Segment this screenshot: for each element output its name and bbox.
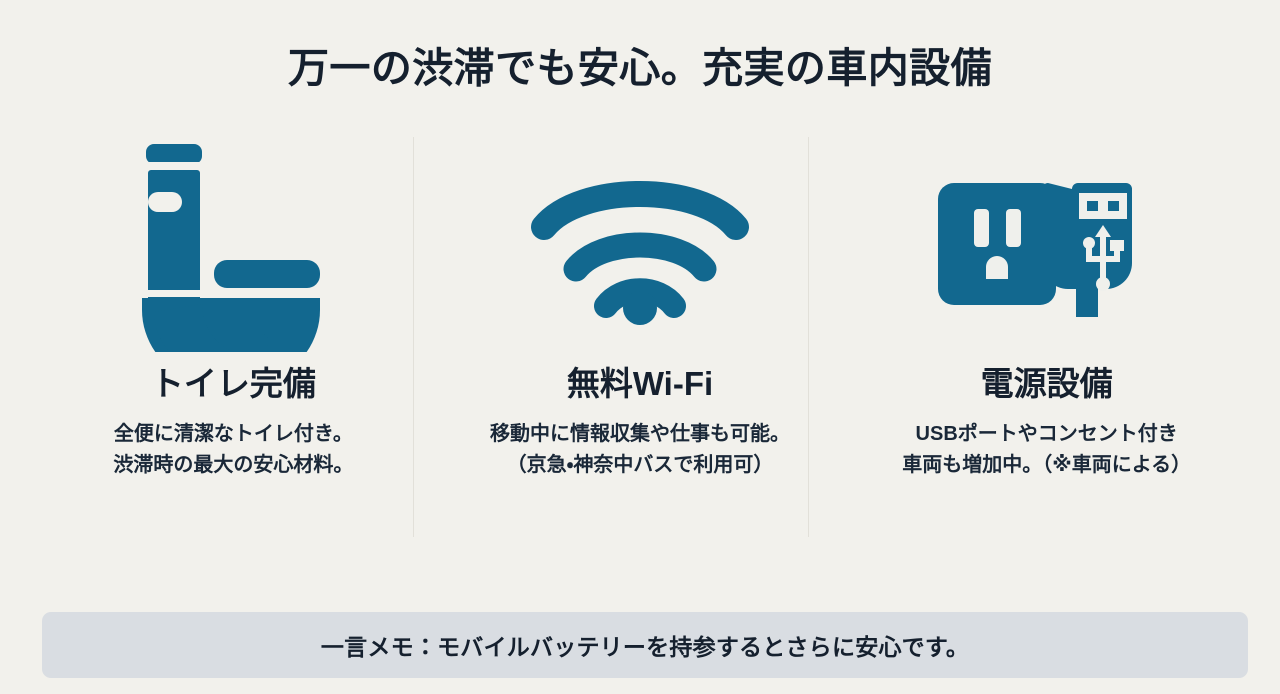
feature-desc-line-2: （京急・神奈中バスで利用可） <box>490 450 790 481</box>
feature-desc-line-1: USBポートやコンセント付き <box>902 419 1191 450</box>
feature-desc-power: USBポートやコンセント付き 車両も増加中。（※車両による） <box>902 419 1191 481</box>
feature-desc-line-1: 全便に清潔なトイレ付き。 <box>113 419 353 450</box>
outlet-icon <box>938 183 1056 305</box>
feature-column-power: 電源設備 USBポートやコンセント付き 車両も増加中。（※車両による） <box>843 127 1250 537</box>
feature-desc-line-2: 渋滞時の最大の安心材料。 <box>113 450 353 481</box>
toilet-icon-container <box>30 127 437 363</box>
usb-plug-icon <box>1042 183 1132 317</box>
feature-title-toilet: トイレ完備 <box>151 365 316 403</box>
feature-desc-toilet: 全便に清潔なトイレ付き。 渋滞時の最大の安心材料。 <box>113 419 353 481</box>
wifi-icon <box>528 165 752 325</box>
wifi-dot-icon <box>623 291 657 325</box>
slide-root: 万一の渋滞でも安心。充実の車内設備 <box>0 0 1280 694</box>
power-icon-container <box>843 127 1250 363</box>
toilet-flush-handle-icon <box>148 192 182 212</box>
wifi-icon-container <box>437 127 844 363</box>
feature-column-toilet: トイレ完備 全便に清潔なトイレ付き。 渋滞時の最大の安心材料。 <box>30 127 437 537</box>
feature-title-power: 電源設備 <box>981 365 1113 403</box>
page-title: 万一の渋滞でも安心。充実の車内設備 <box>0 44 1280 93</box>
feature-desc-wifi: 移動中に情報収集や仕事も可能。 （京急・神奈中バスで利用可） <box>490 419 790 481</box>
toilet-icon <box>138 138 328 352</box>
feature-title-wifi: 無料Wi-Fi <box>567 365 713 403</box>
feature-desc-line-1: 移動中に情報収集や仕事も可能。 <box>490 419 790 450</box>
note-text: 一言メモ：モバイルバッテリーを持参するとさらに安心です。 <box>321 628 969 662</box>
feature-column-wifi: 無料Wi-Fi 移動中に情報収集や仕事も可能。 （京急・神奈中バスで利用可） <box>437 127 844 537</box>
note-bar: 一言メモ：モバイルバッテリーを持参するとさらに安心です。 <box>42 612 1248 678</box>
feature-columns: トイレ完備 全便に清潔なトイレ付き。 渋滞時の最大の安心材料。 無料Wi-Fi <box>0 127 1280 537</box>
feature-desc-line-2: 車両も増加中。（※車両による） <box>902 450 1191 481</box>
power-outlet-usb-icon <box>936 171 1158 319</box>
page-title-container: 万一の渋滞でも安心。充実の車内設備 <box>0 0 1280 93</box>
